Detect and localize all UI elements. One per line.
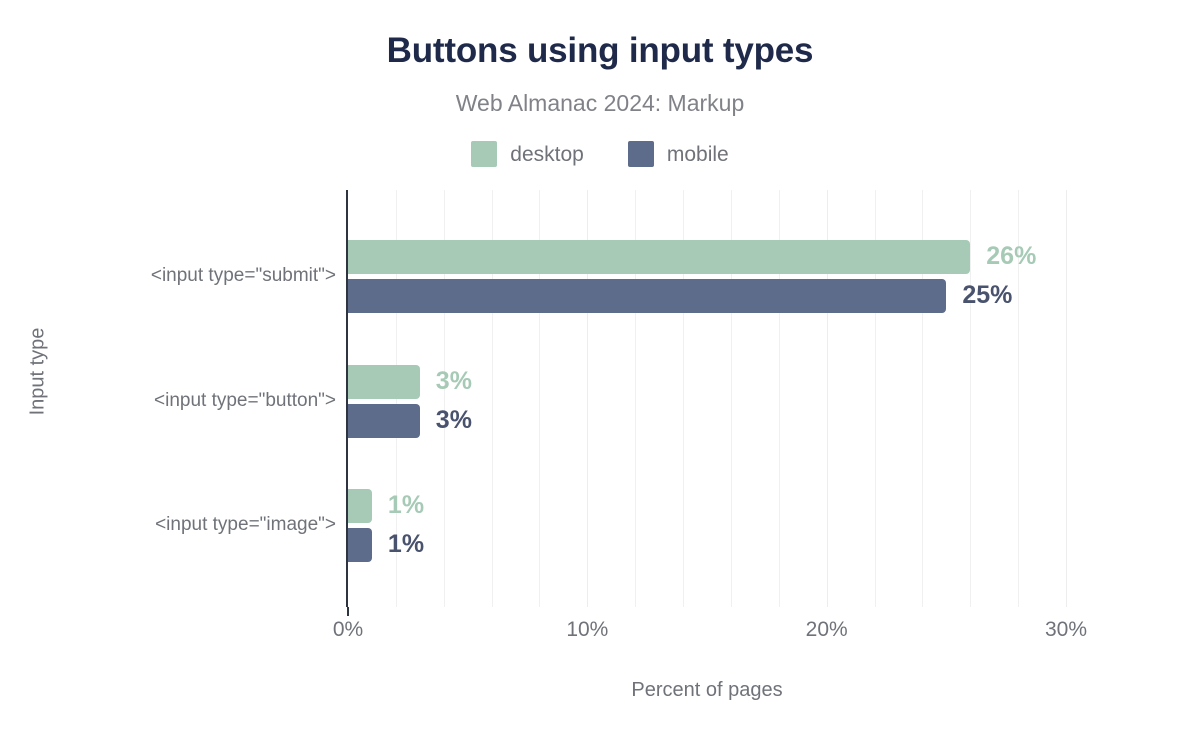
x-axis-tick-label: 20% [806,618,848,642]
legend-swatch-desktop [471,141,497,167]
chart-subtitle: Web Almanac 2024: Markup [0,90,1200,117]
chart-legend: desktop mobile [0,141,1200,167]
bar-desktop[interactable] [348,240,970,274]
y-axis-category-label: <input type="submit"> [151,265,336,287]
plot-area: 26%25%3%3%1%1% [348,190,1066,607]
legend-label-desktop: desktop [510,144,584,165]
y-axis-title-text: Input type [27,327,50,415]
legend-item-mobile[interactable]: mobile [628,141,729,167]
bar-value-label-desktop: 1% [388,493,424,518]
x-axis-tick-label: 30% [1045,618,1087,642]
y-axis-title: Input type [18,0,58,742]
chart-title: Buttons using input types [0,31,1200,71]
x-axis-title: Percent of pages [348,679,1066,702]
bar-value-label-mobile: 3% [436,408,472,433]
gridline [970,190,971,607]
bar-value-label-desktop: 3% [436,369,472,394]
legend-item-desktop[interactable]: desktop [471,141,584,167]
bar-desktop[interactable] [348,489,372,523]
legend-swatch-mobile [628,141,654,167]
bar-chart: Buttons using input types Web Almanac 20… [0,0,1200,742]
bar-value-label-mobile: 1% [388,532,424,557]
y-axis-category-label: <input type="image"> [155,514,336,536]
bar-desktop[interactable] [348,365,420,399]
y-axis-line [346,190,348,607]
bar-mobile[interactable] [348,528,372,562]
bar-value-label-desktop: 26% [986,244,1036,269]
x-axis-tick-label: 0% [333,618,363,642]
bar-mobile[interactable] [348,404,420,438]
legend-label-mobile: mobile [667,144,729,165]
bar-mobile[interactable] [348,279,946,313]
x-axis-tick-label: 10% [566,618,608,642]
bar-value-label-mobile: 25% [962,283,1012,308]
y-axis-category-label: <input type="button"> [154,390,336,412]
gridline [1066,190,1067,607]
x-axis-tick-mark [347,607,349,616]
